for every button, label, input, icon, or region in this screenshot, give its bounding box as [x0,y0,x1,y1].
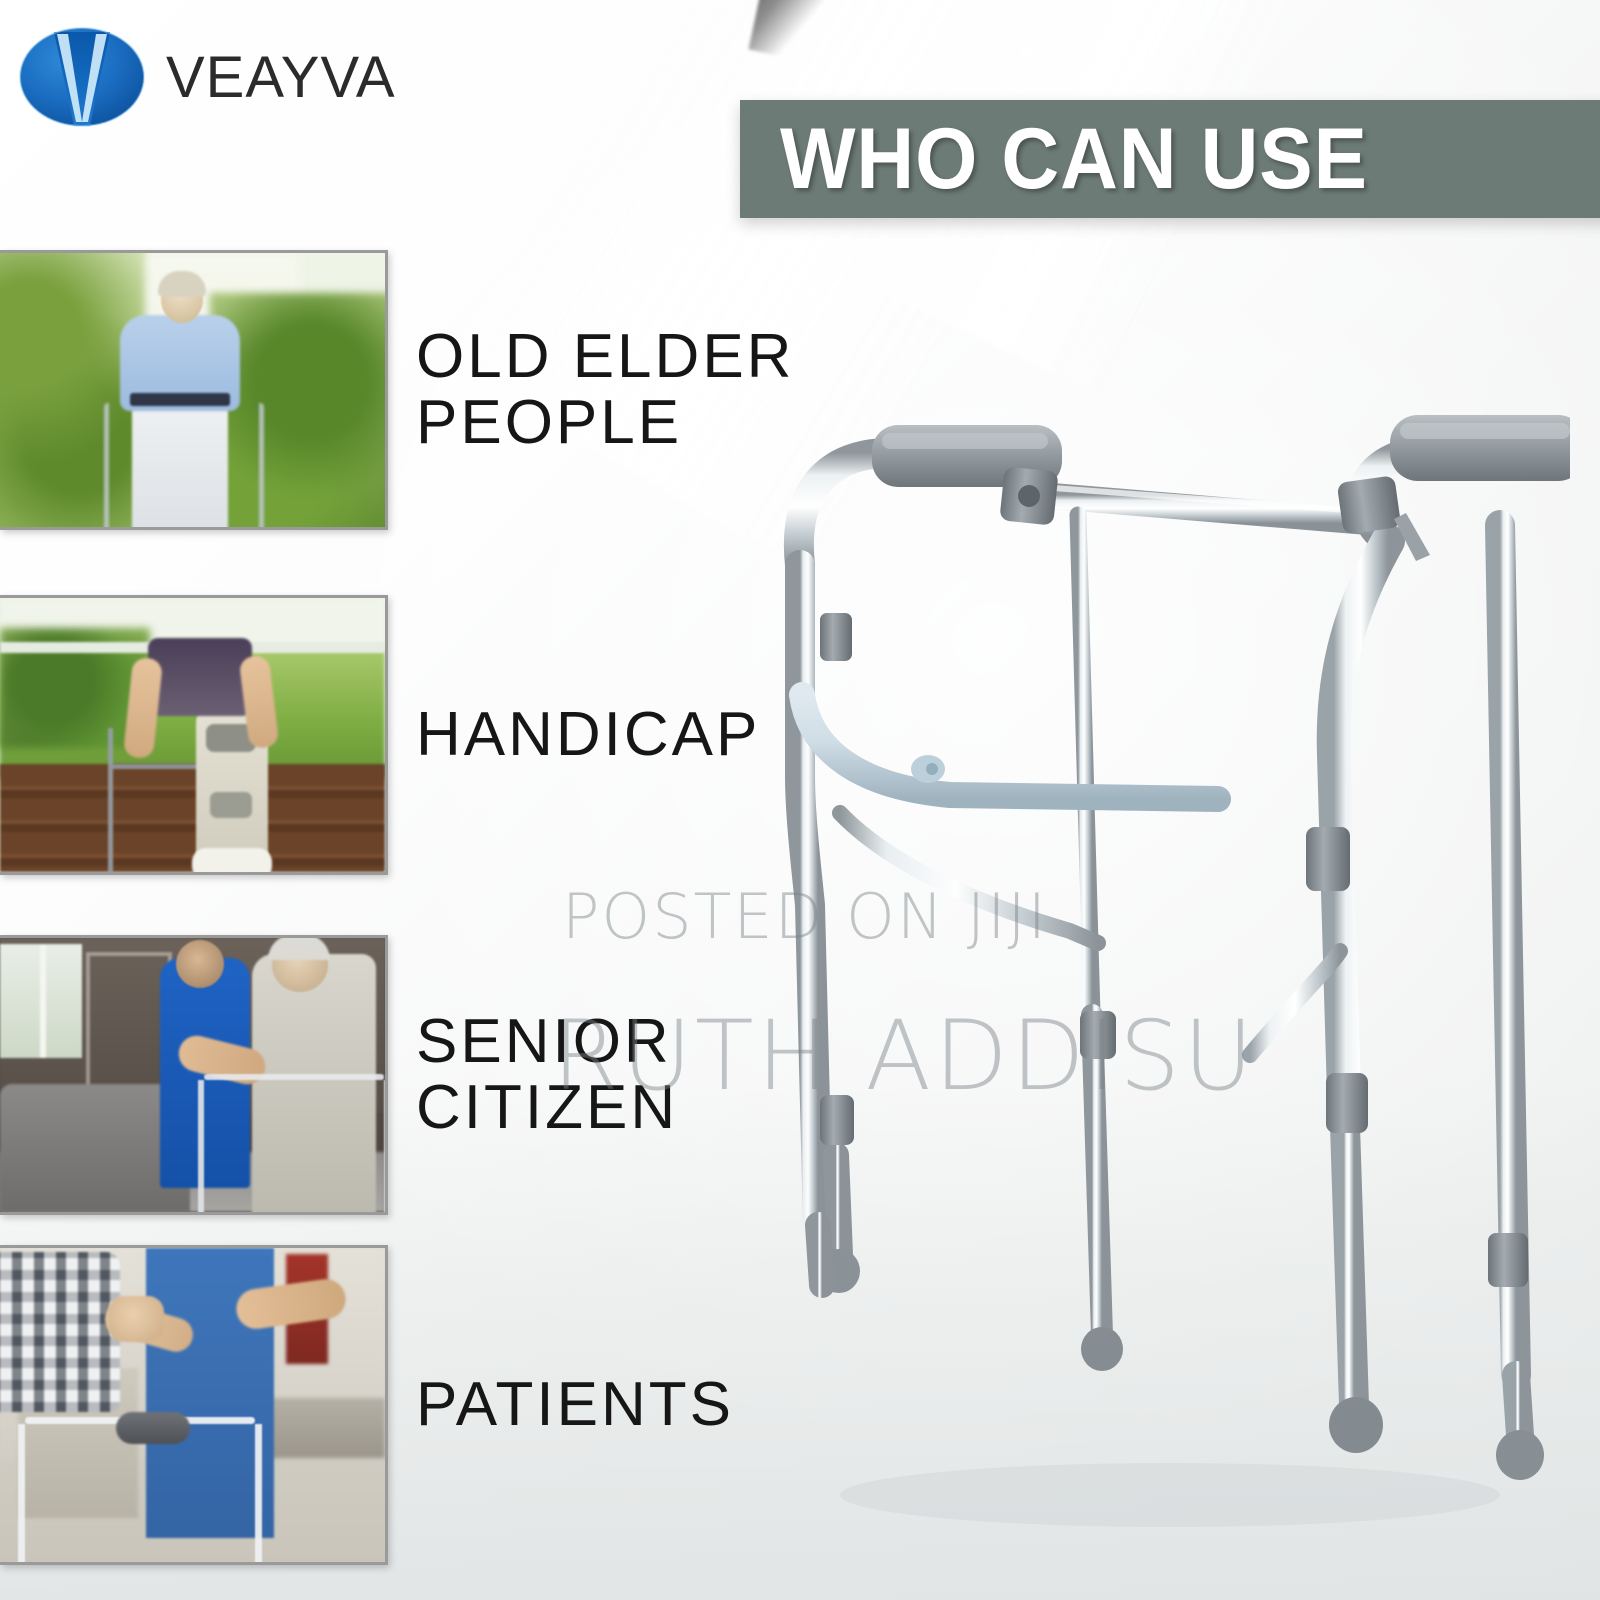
walker-lower-brace-left [840,813,1098,943]
thumbnail-handicap-leg-brace [0,595,388,875]
walker-rear-right-leg [1488,525,1528,1375]
headline-text: WHO CAN USE [780,116,1368,202]
usecase-label: OLD ELDER PEOPLE [416,324,794,455]
background-dark-shard [749,0,862,68]
product-listing-image: VEAYVA WHO CAN USE OLD ELDER PEOPLE [0,0,1600,1600]
usecase-row: PATIENTS [0,1245,734,1565]
thumbnail-senior-citizen-care [0,935,388,1215]
headline-banner: WHO CAN USE [740,100,1600,218]
walker-right-rear-leg-lower [1496,1375,1544,1480]
usecase-label: HANDICAP [416,702,760,768]
thumbnail-elderly-outdoors [0,250,388,530]
walker-left-front-leg-lower [818,1225,822,1285]
walker-top-crossbar [1040,487,1388,523]
thumbnail-patient-assisted [0,1245,388,1565]
walker-right-front-leg-lower [1326,1073,1383,1453]
veayva-oval-v-emblem-icon [16,22,148,132]
usecase-row: HANDICAP [0,595,760,875]
usecase-row: SENIOR CITIZEN [0,935,678,1215]
walker-folding-hinge [999,466,1058,525]
walker-mid-crossbar [802,695,1218,799]
usecase-label: SENIOR CITIZEN [416,1009,678,1140]
usecase-row: OLD ELDER PEOPLE [0,250,794,530]
walker-centre-leg-lower [1080,1011,1123,1371]
usecase-label: PATIENTS [416,1372,734,1438]
walker-right-grip [1390,415,1570,481]
brand-logo: VEAYVA [16,22,396,132]
brand-name: VEAYVA [166,44,396,111]
folding-walking-frame [740,395,1570,1555]
walker-lower-brace-right [1250,951,1482,1055]
